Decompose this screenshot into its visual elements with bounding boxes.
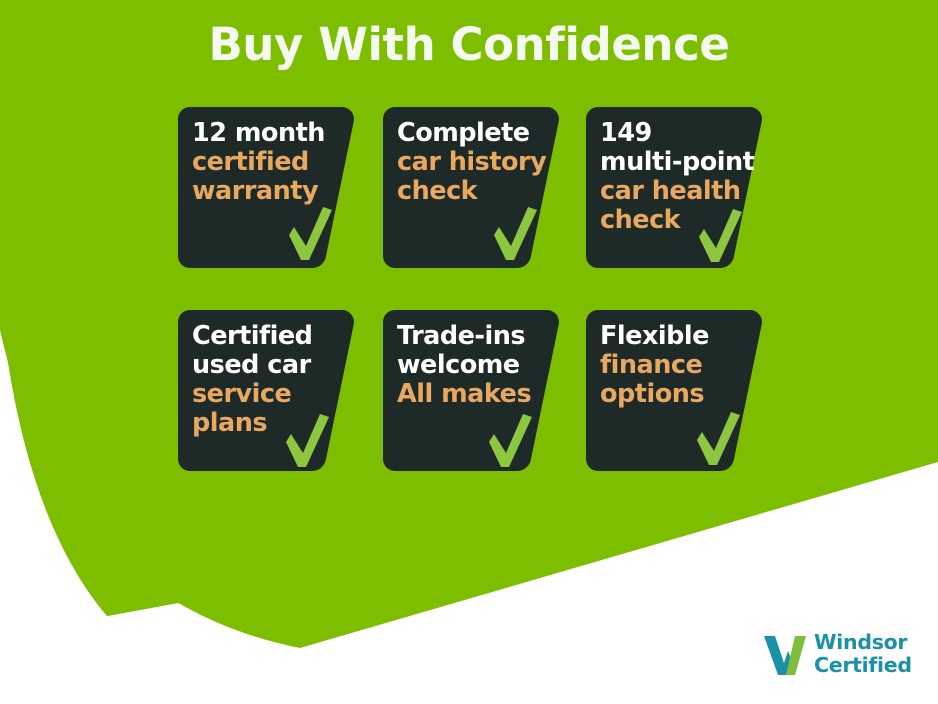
green-check-icon (491, 205, 539, 263)
feature-card-flexible-finance[interactable]: Flexible finance options (586, 310, 764, 471)
green-check-icon (283, 412, 331, 470)
card-line-accent: finance (600, 351, 750, 380)
card-line-white: 149 (600, 119, 750, 148)
green-check-icon (696, 207, 744, 265)
card-line-white: Flexible (600, 322, 750, 351)
card-line-white: Complete (397, 119, 547, 148)
card-line-accent: car history (397, 148, 547, 177)
card-line-white: 12 month (192, 119, 342, 148)
card-line-accent: car health (600, 177, 750, 206)
card-line-accent: check (397, 177, 547, 206)
promo-banner: Buy With Confidence 12 month certified w… (0, 0, 938, 704)
feature-card-service-plans[interactable]: Certified used car service plans (178, 310, 356, 471)
card-text: Trade-ins welcome All makes (397, 322, 547, 409)
card-line-white: multi-point (600, 148, 750, 177)
green-check-icon (286, 205, 334, 263)
feature-card-certified-warranty[interactable]: 12 month certified warranty (178, 107, 356, 268)
card-line-white: welcome (397, 351, 547, 380)
windsor-w-icon (762, 633, 810, 677)
card-line-accent: options (600, 380, 750, 409)
feature-card-multi-point-health-check[interactable]: 149 multi-point car health check (586, 107, 764, 268)
feature-card-trade-ins[interactable]: Trade-ins welcome All makes (383, 310, 561, 471)
windsor-certified-logo[interactable]: Windsor Certified (762, 629, 932, 681)
card-line-accent: service (192, 380, 342, 409)
card-text: Complete car history check (397, 119, 547, 206)
page-title: Buy With Confidence (0, 18, 938, 71)
card-line-white: Trade-ins (397, 322, 547, 351)
card-line-accent: All makes (397, 380, 547, 409)
green-check-icon (486, 412, 534, 470)
logo-line-2: Certified (814, 654, 912, 677)
green-check-icon (694, 410, 742, 468)
card-line-accent: certified (192, 148, 342, 177)
card-line-white: used car (192, 351, 342, 380)
card-line-accent: warranty (192, 177, 342, 206)
logo-wordmark: Windsor Certified (814, 631, 912, 676)
card-line-white: Certified (192, 322, 342, 351)
card-text: Flexible finance options (600, 322, 750, 409)
card-text: 12 month certified warranty (192, 119, 342, 206)
logo-line-1: Windsor (814, 631, 912, 654)
feature-card-car-history-check[interactable]: Complete car history check (383, 107, 561, 268)
